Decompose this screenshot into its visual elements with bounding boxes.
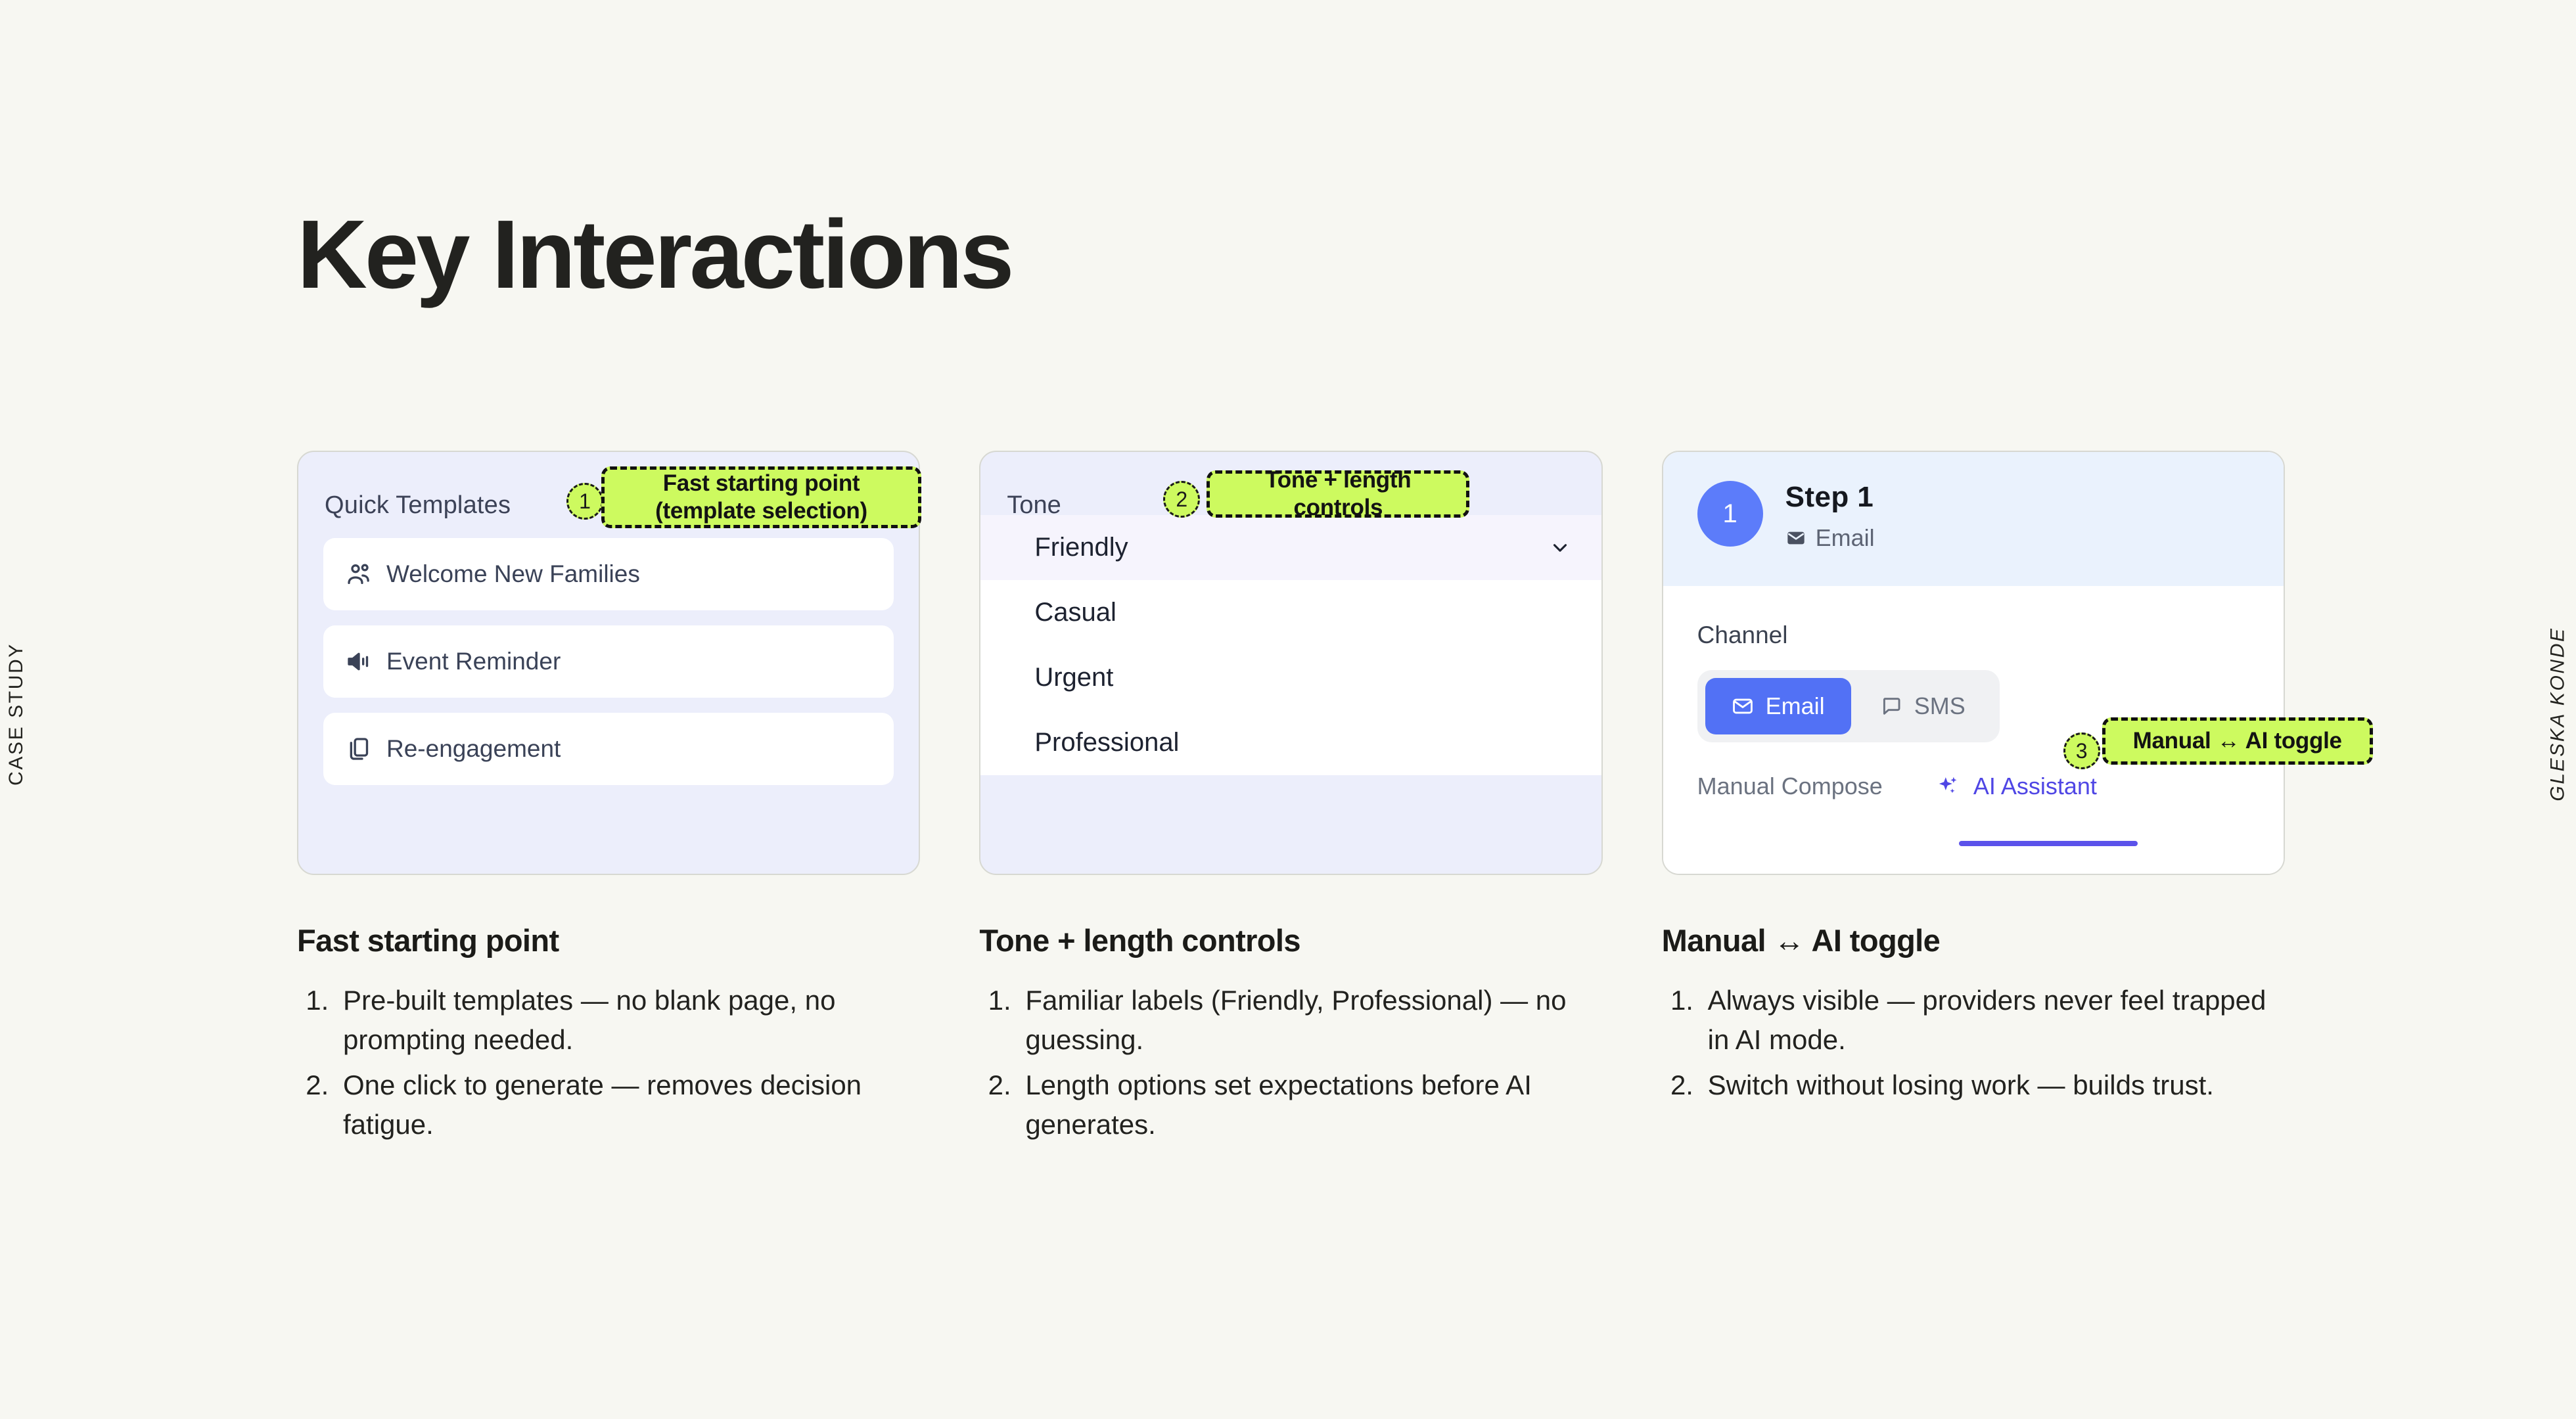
tone-options-menu: Friendly Casual Urgent Professional [980, 515, 1601, 775]
sparkle-icon [1935, 774, 1960, 799]
mock-card-tone-dropdown: Tone Friendly Casual Urgent [979, 451, 1602, 875]
list-item-label: Event Reminder [386, 648, 561, 675]
prose-block-3: Manual ↔ AI toggle Always visible — prov… [1662, 922, 2285, 1105]
channel-segmented-control: Email SMS [1697, 670, 2000, 742]
callout-1: Fast starting point (template selection) [601, 466, 921, 528]
step-title: Step 1 [1785, 481, 1875, 514]
callout-badge-3: 3 [2063, 732, 2100, 769]
prose-block-2: Tone + length controls Familiar labels (… [979, 922, 1602, 1144]
callout-3: Manual ↔ AI toggle [2102, 717, 2373, 765]
copy-icon [346, 736, 372, 762]
tab-label: Manual Compose [1697, 773, 1883, 800]
megaphone-icon [346, 648, 372, 675]
columns-container: Quick Templates Welcome New Families [297, 451, 2285, 1151]
column-fast-starting-point: Quick Templates Welcome New Families [297, 451, 920, 1151]
compose-mode-tabs: Manual Compose AI Assistant [1697, 773, 2284, 800]
callout-badge-1: 1 [566, 483, 603, 520]
chat-bubble-icon [1880, 695, 1902, 717]
step-header: 1 Step 1 Email [1663, 452, 2284, 586]
step-number-badge: 1 [1697, 481, 1763, 547]
tab-ai-assistant[interactable]: AI Assistant [1935, 773, 2097, 800]
list-item: One click to generate — removes decision… [336, 1066, 920, 1144]
callout-1-line1: Fast starting point [663, 470, 860, 497]
list-item[interactable]: Welcome New Families [323, 538, 894, 610]
case-study-rail: CASE STUDY [5, 642, 28, 786]
mock-card-step-channel: 1 Step 1 Email [1662, 451, 2285, 875]
step-channel-label: Email [1816, 524, 1875, 552]
list-item[interactable]: Re-engagement [323, 713, 894, 785]
tone-option-label: Urgent [1034, 663, 1113, 692]
tab-label: AI Assistant [1973, 773, 2097, 800]
chevron-down-icon[interactable] [1549, 537, 1571, 559]
column-manual-ai-toggle: 1 Step 1 Email [1662, 451, 2285, 1151]
tone-option-friendly[interactable]: Friendly [980, 515, 1601, 580]
envelope-icon [1785, 528, 1806, 549]
segment-email[interactable]: Email [1705, 678, 1851, 734]
prose-heading: Tone + length controls [979, 922, 1602, 958]
step-channel-row: Email [1785, 524, 1875, 552]
tone-option-professional[interactable]: Professional [980, 710, 1601, 775]
callout-2: Tone + length controls [1207, 470, 1469, 518]
mock-card-quick-templates: Quick Templates Welcome New Families [297, 451, 920, 875]
segment-sms[interactable]: SMS [1854, 678, 1992, 734]
list-item: Switch without losing work — builds trus… [1701, 1066, 2285, 1105]
tone-option-urgent[interactable]: Urgent [980, 645, 1601, 710]
tone-option-label: Friendly [1034, 533, 1128, 562]
segment-label: SMS [1914, 692, 1966, 720]
people-icon [346, 561, 372, 587]
tab-manual-compose[interactable]: Manual Compose [1697, 773, 1883, 800]
tone-option-casual[interactable]: Casual [980, 580, 1601, 645]
segment-label: Email [1766, 692, 1825, 720]
channel-label: Channel [1697, 621, 2284, 649]
envelope-icon [1732, 695, 1754, 717]
quick-templates-list: Welcome New Families Event Reminder [298, 538, 919, 785]
prose-list: Pre-built templates — no blank page, no … [297, 981, 920, 1144]
prose-list: Familiar labels (Friendly, Professional)… [979, 981, 1602, 1144]
page-title: Key Interactions [297, 206, 1011, 304]
column-tone-controls: Tone Friendly Casual Urgent [979, 451, 1602, 1151]
prose-list: Always visible — providers never feel tr… [1662, 981, 2285, 1105]
callout-badge-2: 2 [1163, 481, 1200, 518]
prose-heading: Manual ↔ AI toggle [1662, 922, 2285, 958]
list-item-label: Re-engagement [386, 735, 561, 763]
list-item: Pre-built templates — no blank page, no … [336, 981, 920, 1059]
tone-option-label: Professional [1034, 728, 1179, 757]
author-rail: GLESKA KONDE [2547, 627, 2569, 801]
tone-option-label: Casual [1034, 598, 1116, 627]
callout-1-line2: (template selection) [655, 497, 867, 525]
list-item: Familiar labels (Friendly, Professional)… [1019, 981, 1602, 1059]
prose-heading: Fast starting point [297, 922, 920, 958]
list-item-label: Welcome New Families [386, 560, 640, 588]
list-item: Always visible — providers never feel tr… [1701, 981, 2285, 1059]
list-item[interactable]: Event Reminder [323, 625, 894, 698]
active-tab-underline [1959, 841, 2138, 846]
prose-block-1: Fast starting point Pre-built templates … [297, 922, 920, 1144]
list-item: Length options set expectations before A… [1019, 1066, 1602, 1144]
